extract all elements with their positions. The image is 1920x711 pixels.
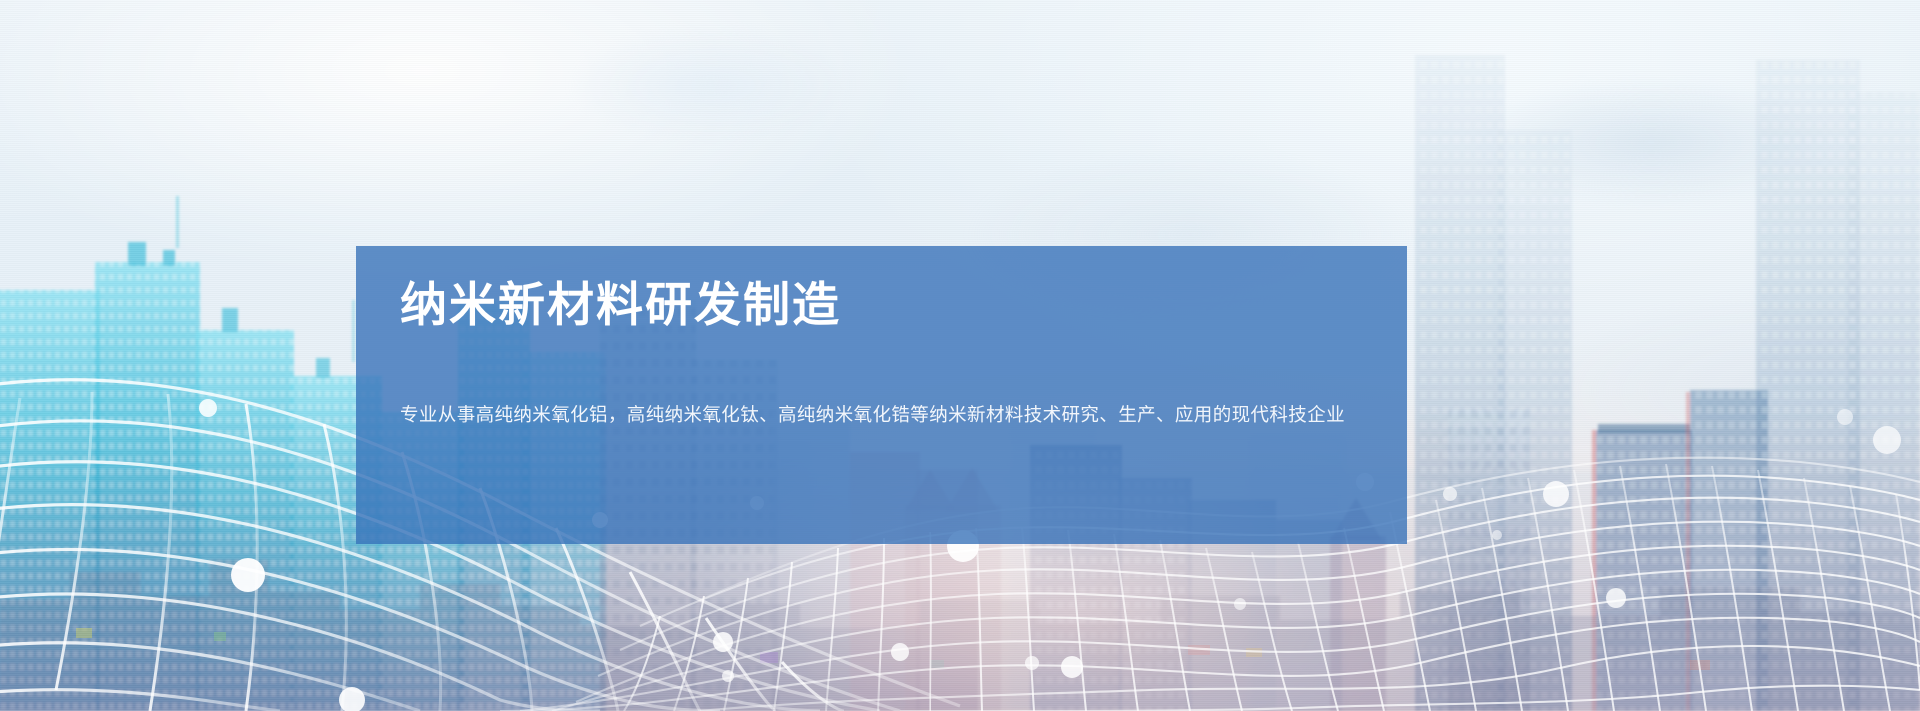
page-subtitle: 专业从事高纯纳米氧化铝，高纯纳米氧化钛、高纯纳米氧化锆等纳米新材料技术研究、生产… <box>400 396 1355 433</box>
hero-banner: 纳米新材料研发制造 专业从事高纯纳米氧化铝，高纯纳米氧化钛、高纯纳米氧化锆等纳米… <box>0 0 1920 711</box>
page-title: 纳米新材料研发制造 <box>400 281 841 328</box>
